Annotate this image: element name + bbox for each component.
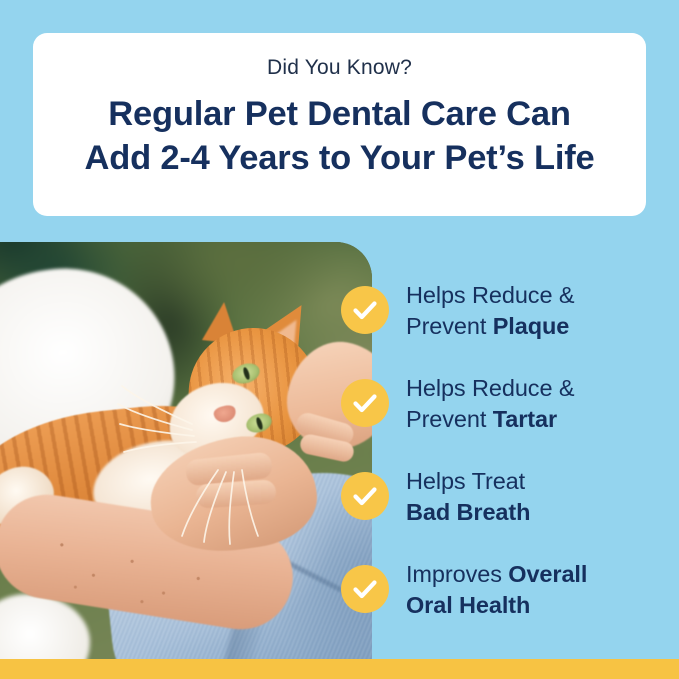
list-item-line-2-normal: Prevent <box>406 406 493 432</box>
list-item-label: Helps Reduce & Prevent Tartar <box>406 373 574 435</box>
list-item-label: Improves Overall Oral Health <box>406 559 587 621</box>
list-item-line-2: Bad Breath <box>406 497 530 528</box>
list-item-line-1: Improves Overall <box>406 559 587 590</box>
list-item-line-2-bold: Plaque <box>493 313 569 339</box>
list-item-line-2-bold: Bad Breath <box>406 499 530 525</box>
headline-line-2: Add 2-4 Years to Your Pet’s Life <box>85 136 595 180</box>
list-item-line-1: Helps Reduce & <box>406 280 574 311</box>
list-item-label: Helps Reduce & Prevent Plaque <box>406 280 574 342</box>
page-title: Regular Pet Dental Care Can Add 2-4 Year… <box>85 92 595 180</box>
list-item-line-1: Helps Reduce & <box>406 373 574 404</box>
list-item-line-1: Helps Treat <box>406 466 530 497</box>
list-item: Helps Treat Bad Breath <box>341 466 671 559</box>
photo-stage <box>0 242 372 659</box>
list-item-line-2-normal: Prevent <box>406 313 493 339</box>
headline-line-1: Regular Pet Dental Care Can <box>85 92 595 136</box>
list-item-label: Helps Treat Bad Breath <box>406 466 530 528</box>
list-item: Helps Reduce & Prevent Tartar <box>341 373 671 466</box>
check-icon <box>341 379 389 427</box>
bottom-accent-bar <box>0 659 679 679</box>
infographic-root: Did You Know? Regular Pet Dental Care Ca… <box>0 0 679 679</box>
list-item-line-1-normal: Improves <box>406 561 508 587</box>
list-item: Improves Overall Oral Health <box>341 559 671 652</box>
cat-photo <box>0 242 372 659</box>
check-icon <box>341 286 389 334</box>
list-item-line-2: Oral Health <box>406 590 587 621</box>
header-card: Did You Know? Regular Pet Dental Care Ca… <box>33 33 646 216</box>
list-item-line-2-bold: Oral Health <box>406 592 530 618</box>
list-item-line-2-bold: Tartar <box>493 406 557 432</box>
benefits-checklist: Helps Reduce & Prevent Plaque Helps Redu… <box>341 280 671 652</box>
list-item-line-2: Prevent Tartar <box>406 404 574 435</box>
list-item-line-1-bold: Overall <box>508 561 587 587</box>
check-icon <box>341 565 389 613</box>
list-item: Helps Reduce & Prevent Plaque <box>341 280 671 373</box>
eyebrow-text: Did You Know? <box>267 55 412 80</box>
list-item-line-2: Prevent Plaque <box>406 311 574 342</box>
check-icon <box>341 472 389 520</box>
